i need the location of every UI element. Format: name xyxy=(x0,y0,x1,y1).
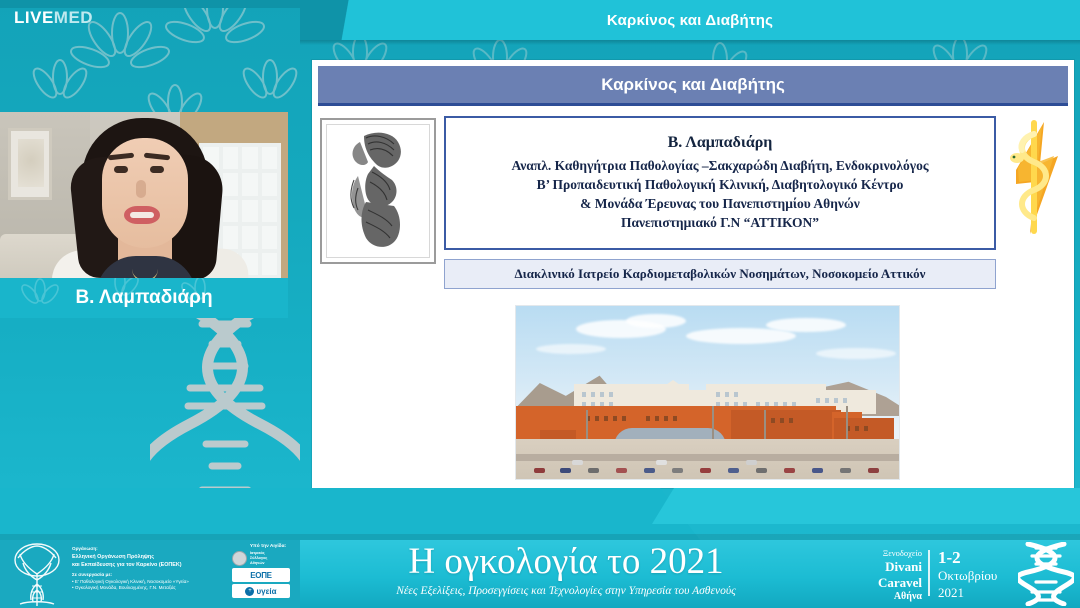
affiliation-text: Διακλινικό Ιατρείο Καρδιομεταβολικών Νοσ… xyxy=(515,266,926,282)
conference-subtitle: Νέες Εξελίξεις, Προσεγγίσεις και Τεχνολο… xyxy=(306,585,826,597)
info-line-1: Αναπλ. Καθηγήτρια Παθολογίας –Σακχαρώδη … xyxy=(511,156,928,175)
wall-picture xyxy=(8,128,52,200)
asklepios-engraving-icon xyxy=(330,128,426,254)
venue-divider xyxy=(928,550,930,596)
speaker-name: Β. Λαμπαδιάρη xyxy=(75,287,212,309)
aegis-block: Υπό την Αιγίδα: Ιατρικός Σύλλογος Αθηνών… xyxy=(232,544,304,600)
venue-block: Ξενοδοχείο Divani Caravel Αθήνα xyxy=(838,548,922,604)
venue-name: Divani Caravel xyxy=(838,559,922,592)
affiliation-box: Διακλινικό Ιατρείο Καρδιομεταβολικών Νοσ… xyxy=(444,259,996,289)
organizer-label: Οργάνωση: xyxy=(72,546,222,553)
eope-logo: ΕΟΠΕ xyxy=(232,568,290,582)
slide-title-text: Καρκίνος και Διαβήτης xyxy=(601,75,785,95)
slide-title-bar: Καρκίνος και Διαβήτης xyxy=(318,66,1068,106)
seal-icon xyxy=(232,551,247,566)
dates-block: 1-2 Οκτωβρίου 2021 xyxy=(938,548,1008,601)
dates-year: 2021 xyxy=(938,585,1008,601)
organizer-line-2: και Εκπαίδευσης για τον Καρκίνο (ΕΟΠΕΚ) xyxy=(72,561,222,569)
ygeia-logo-text: υγεία xyxy=(256,587,276,596)
organizer-line-1: Ελληνική Οργάνωση Πρόληψης xyxy=(72,553,222,561)
ygeia-badge-icon: + xyxy=(245,587,254,596)
info-line-3: & Μονάδα Έρευνας του Πανεπιστημίου Αθηνώ… xyxy=(580,194,860,213)
info-line-4: Πανεπιστημιακό Γ.Ν “ΑΤΤΙΚΟΝ” xyxy=(621,213,819,232)
venue-city: Αθήνα xyxy=(838,591,922,604)
organizer-block: Οργάνωση: Ελληνική Οργάνωση Πρόληψης και… xyxy=(72,546,222,592)
aegis-label: Υπό την Αιγίδα: xyxy=(232,544,304,549)
info-line-2: Β’ Προπαιδευτική Παθολογική Κλινική, Δια… xyxy=(537,175,904,194)
livemed-logo[interactable]: LIVEMED xyxy=(14,8,93,28)
slide-panel[interactable]: Καρκίνος και Διαβήτης xyxy=(312,60,1074,488)
asclepius-rod-lightning-icon xyxy=(1004,112,1066,244)
conference-footer: Οργάνωση: Ελληνική Οργάνωση Πρόληψης και… xyxy=(0,540,1080,608)
angled-band-light xyxy=(652,488,1080,524)
header-shadow xyxy=(300,40,1080,45)
logo-med-text: MED xyxy=(54,8,93,27)
eope-logo-text: ΕΟΠΕ xyxy=(250,571,271,580)
speaker-name-band: Β. Λαμπαδιάρη xyxy=(0,278,288,318)
dates-month: Οκτωβρίου xyxy=(938,568,1008,584)
session-title: Καρκίνος και Διαβήτης xyxy=(607,12,773,29)
cooperation-item-2: • Ογκολογική Μονάδα, Βουλιαγμένης, Γ.Ν. … xyxy=(72,585,222,592)
ygeia-logo: +υγεία xyxy=(232,584,290,598)
hospital-photo xyxy=(515,305,900,480)
asklepios-image-frame xyxy=(320,118,436,264)
speaker-info-box: Β. Λαμπαδιάρη Αναπλ. Καθηγήτρια Παθολογί… xyxy=(444,116,996,250)
conference-title: Η ογκολογία το 2021 xyxy=(306,540,826,584)
medical-association-logo: Ιατρικός Σύλλογος Αθηνών xyxy=(232,551,304,566)
tree-dna-logo-icon xyxy=(6,540,68,608)
logo-live-text: LIVE xyxy=(14,8,54,27)
header-notch xyxy=(300,0,420,40)
cooperation-label: Σε συνεργασία με: xyxy=(72,572,222,579)
presentation-viewer: LIVEMED Καρκίνος και Διαβήτης xyxy=(0,0,1080,608)
venue-label: Ξενοδοχείο xyxy=(838,548,922,559)
conference-title-block: Η ογκολογία το 2021 Νέες Εξελίξεις, Προσ… xyxy=(306,540,826,608)
info-speaker-name: Β. Λαμπαδιάρη xyxy=(668,134,773,152)
dna-helix-footer-icon xyxy=(1018,542,1074,606)
aegis-seal-line-3: Αθηνών xyxy=(250,561,267,566)
dates-days: 1-2 xyxy=(938,548,1008,568)
